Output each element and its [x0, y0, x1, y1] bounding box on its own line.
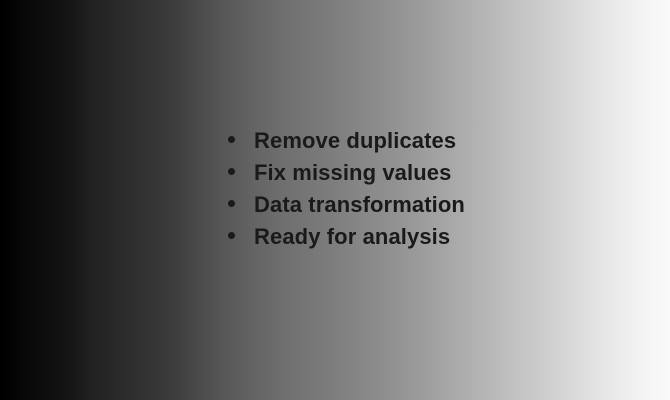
list-item: Remove duplicates — [228, 125, 465, 157]
list-item: Ready for analysis — [228, 221, 465, 253]
list-item-label: Remove duplicates — [254, 125, 456, 157]
list-item-label: Data transformation — [254, 189, 465, 221]
list-item: Data transformation — [228, 189, 465, 221]
slide-canvas: Remove duplicates Fix missing values Dat… — [0, 0, 670, 400]
bullet-dot-icon — [228, 232, 235, 239]
list-item: Fix missing values — [228, 157, 465, 189]
list-item-label: Ready for analysis — [254, 221, 450, 253]
bullet-dot-icon — [228, 136, 235, 143]
bullet-dot-icon — [228, 200, 235, 207]
bullet-list: Remove duplicates Fix missing values Dat… — [228, 125, 465, 253]
bullet-dot-icon — [228, 168, 235, 175]
list-item-label: Fix missing values — [254, 157, 451, 189]
